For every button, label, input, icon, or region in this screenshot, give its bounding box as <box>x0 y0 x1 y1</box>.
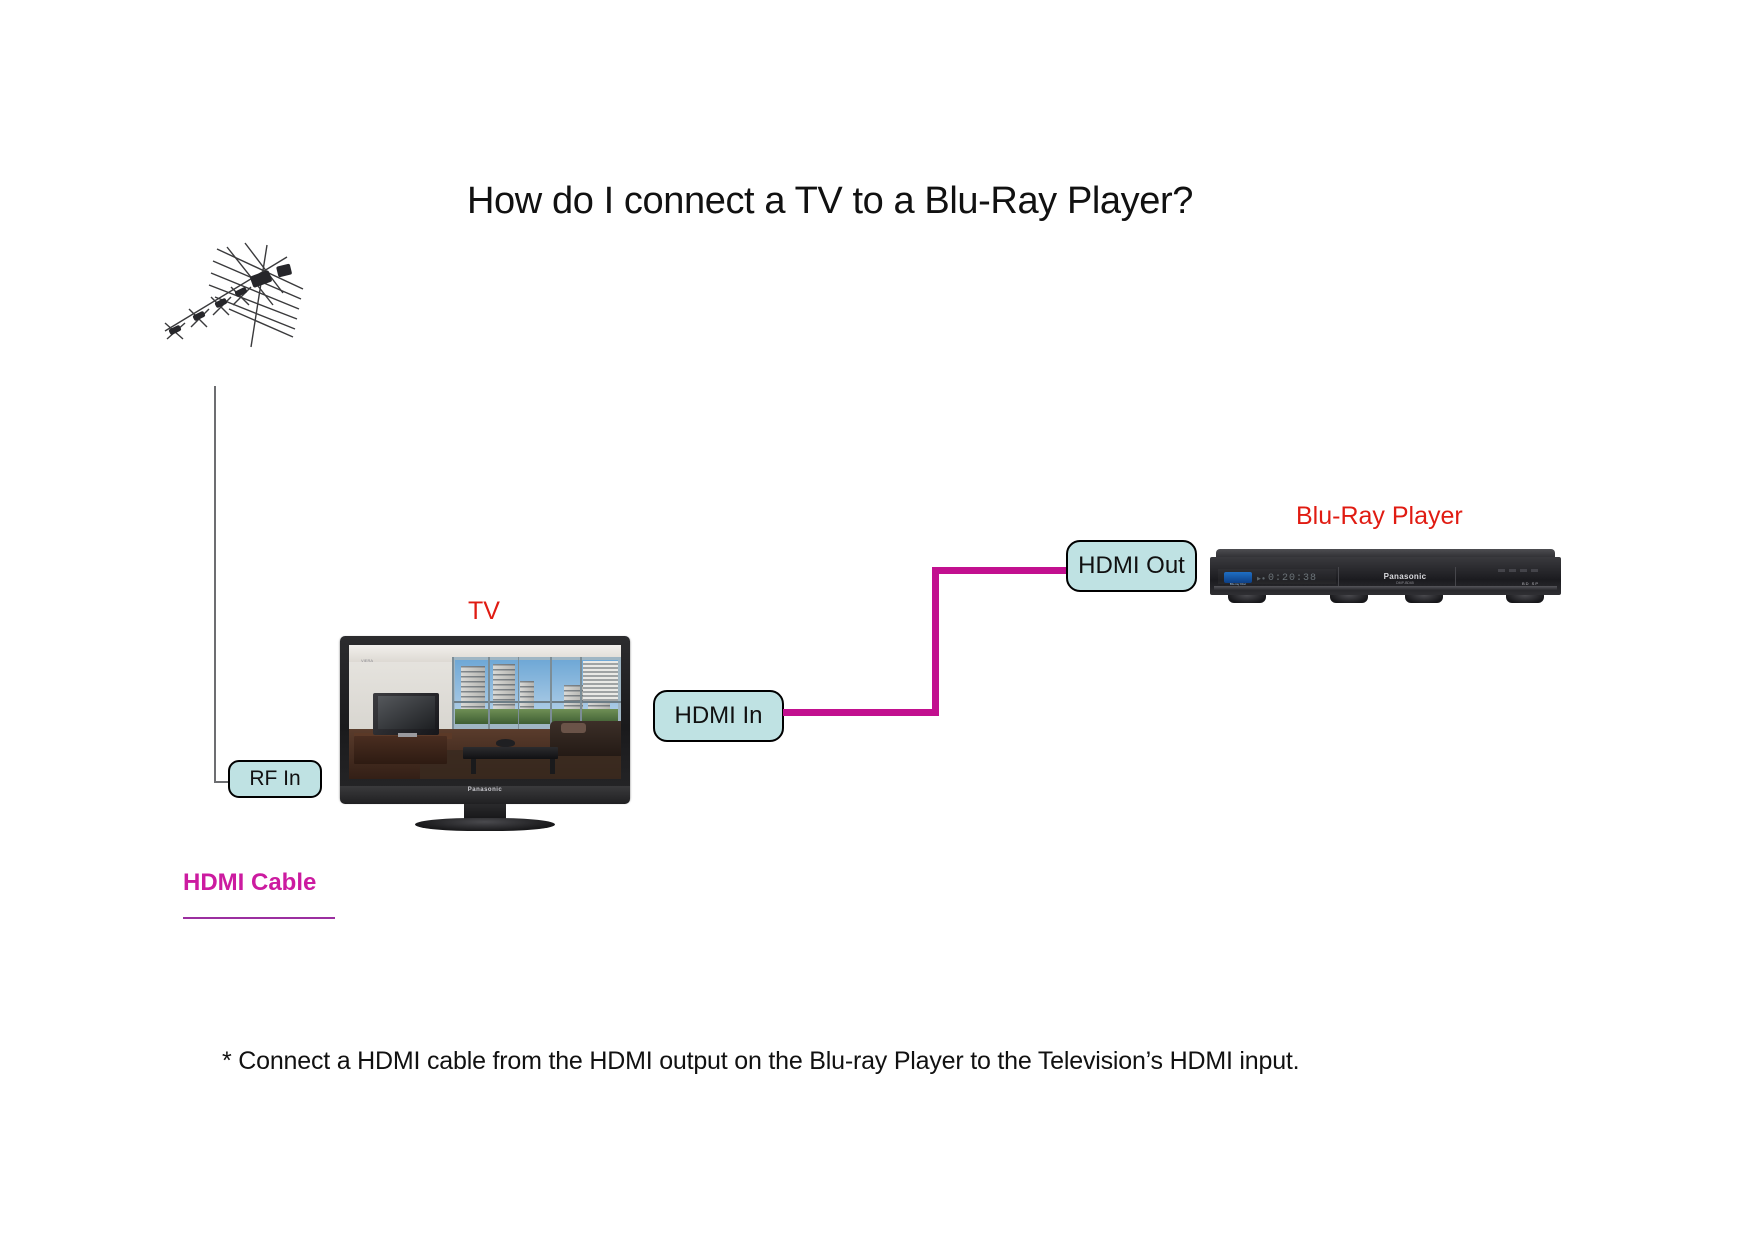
hdmi-in-port-box[interactable]: HDMI In <box>653 690 784 742</box>
page-title: How do I connect a TV to a Blu-Ray Playe… <box>330 180 1330 223</box>
rf-in-label: RF In <box>249 767 300 791</box>
bluray-brand-label: Panasonic <box>1360 572 1450 581</box>
tv-screen: VIERA <box>349 645 621 779</box>
tv-stand-base <box>415 818 555 831</box>
hdmi-cable-legend-rule <box>183 917 335 919</box>
bluray-button-1[interactable] <box>1498 569 1505 572</box>
rf-in-port-box[interactable]: RF In <box>228 760 322 798</box>
bluray-model-label: DMP-BD65 <box>1360 581 1450 585</box>
antenna-icon <box>155 235 315 355</box>
bluray-front-panel: Blu-ray Disc ▶ ⏺ 0:20:38 Panasonic DMP-B… <box>1210 557 1561 595</box>
bluray-player-image: Blu-ray Disc ▶ ⏺ 0:20:38 Panasonic DMP-B… <box>1210 549 1561 608</box>
television-image: VIERA Panasonic <box>340 636 630 836</box>
hdmi-cable-legend-label: HDMI Cable <box>183 869 316 897</box>
bluray-button-3[interactable] <box>1520 569 1527 572</box>
hdmi-cable-segment-vertical <box>932 567 939 716</box>
hdmi-out-port-box[interactable]: HDMI Out <box>1066 540 1197 592</box>
tv-corner-logo: VIERA <box>361 658 373 663</box>
bluray-play-indicator-icon: ▶ ⏺ <box>1257 576 1265 582</box>
footnote-text: * Connect a HDMI cable from the HDMI out… <box>222 1047 1299 1076</box>
bluray-button-2[interactable] <box>1509 569 1516 572</box>
bluray-caption: Blu-Ray Player <box>1296 502 1463 531</box>
bluray-front-strip <box>1214 586 1557 590</box>
hdmi-cable-segment-lower-horizontal <box>783 709 939 716</box>
slide-canvas: How do I connect a TV to a Blu-Ray Playe… <box>0 0 1755 1240</box>
tv-caption: TV <box>468 597 500 626</box>
hdmi-cable-segment-upper-horizontal <box>932 567 1068 574</box>
tv-antenna-image <box>155 235 315 355</box>
hdmi-out-label: HDMI Out <box>1078 552 1185 580</box>
hdmi-in-label: HDMI In <box>674 702 762 730</box>
tv-brand-label: Panasonic <box>340 787 630 793</box>
tv-screen-content-living-room <box>349 645 621 779</box>
bluray-time-display: 0:20:38 <box>1268 573 1317 584</box>
rf-cable-vertical-segment <box>214 386 216 783</box>
bluray-button-4[interactable] <box>1531 569 1538 572</box>
